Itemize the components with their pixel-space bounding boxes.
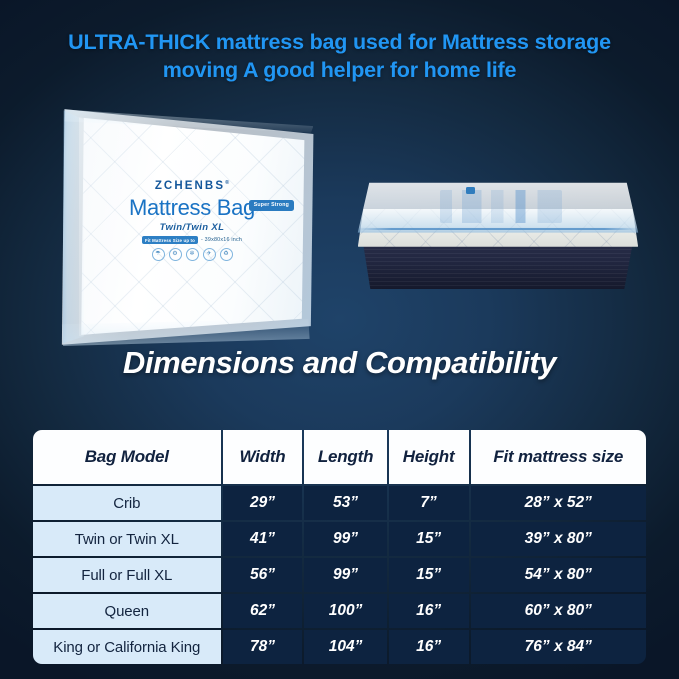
- cell-fit-size: 60” x 80”: [471, 594, 646, 628]
- table-header-row: Bag Model Width Length Height Fit mattre…: [33, 430, 646, 484]
- cell-width: 56”: [223, 558, 303, 592]
- package-label: ZCHENBS® Mattress Bag Twin/Twin XL Fit M…: [106, 176, 278, 261]
- table-row: Crib 29” 53” 7” 28” x 52”: [33, 486, 646, 520]
- cell-length: 104”: [304, 630, 386, 664]
- cell-bag-model: Full or Full XL: [33, 558, 221, 592]
- column-header-height: Height: [389, 430, 469, 484]
- cell-width: 29”: [223, 486, 303, 520]
- recyclable-icon: ♻: [220, 248, 233, 261]
- cell-fit-size: 28” x 52”: [471, 486, 646, 520]
- headline-line-2: moving A good helper for home life: [0, 56, 679, 84]
- table-row: Queen 62” 100” 16” 60” x 80”: [33, 594, 646, 628]
- cell-height: 15”: [389, 558, 469, 592]
- headline-line-1: ULTRA-THICK mattress bag used for Mattre…: [68, 30, 611, 54]
- bagged-mattress-angled-image: ZCHENBS® Mattress Bag Twin/Twin XL Fit M…: [58, 98, 316, 346]
- cell-length: 99”: [304, 522, 386, 556]
- brand-name: ZCHENBS®: [155, 180, 229, 192]
- cell-height: 15”: [389, 522, 469, 556]
- registered-mark-icon: ®: [225, 180, 229, 186]
- cell-bag-model: King or California King: [33, 630, 221, 664]
- cell-fit-size: 39” x 80”: [471, 522, 646, 556]
- cell-fit-size: 76” x 84”: [471, 630, 646, 664]
- cell-width: 41”: [223, 522, 303, 556]
- cell-width: 78”: [223, 630, 303, 664]
- product-variant: Twin/Twin XL: [106, 222, 278, 233]
- tear-resistant-icon: ⚙: [169, 248, 182, 261]
- feature-icon-row: ☂ ⚙ ✲ ✈ ♻: [106, 248, 278, 261]
- cell-length: 100”: [304, 594, 386, 628]
- cell-bag-model: Twin or Twin XL: [33, 522, 221, 556]
- column-header-width: Width: [223, 430, 303, 484]
- dimensions-table: Bag Model Width Length Height Fit mattre…: [31, 428, 648, 666]
- fit-size-line: Fit Mattress Size up to - 39x80x16 inch: [106, 236, 278, 244]
- dimensions-table-container: Bag Model Width Length Height Fit mattre…: [31, 428, 648, 666]
- table-body: Crib 29” 53” 7” 28” x 52” Twin or Twin X…: [33, 486, 646, 664]
- super-strong-badge: Super Strong: [249, 200, 294, 211]
- column-header-bag-model: Bag Model: [33, 430, 221, 484]
- bag-seal-line: [358, 228, 638, 230]
- table-row: King or California King 78” 104” 16” 76”…: [33, 630, 646, 664]
- dust-proof-icon: ✲: [186, 248, 199, 261]
- cell-bag-model: Queen: [33, 594, 221, 628]
- cell-bag-model: Crib: [33, 486, 221, 520]
- table-row: Twin or Twin XL 41” 99” 15” 39” x 80”: [33, 522, 646, 556]
- product-infographic: ULTRA-THICK mattress bag used for Mattre…: [0, 0, 679, 679]
- brand-text: ZCHENBS: [155, 180, 225, 192]
- waterproof-icon: ☂: [152, 248, 165, 261]
- cell-length: 99”: [304, 558, 386, 592]
- cell-width: 62”: [223, 594, 303, 628]
- bag-logo-badge-icon: [466, 187, 475, 194]
- cell-length: 53”: [304, 486, 386, 520]
- fit-size-pill: Fit Mattress Size up to: [142, 236, 198, 244]
- cell-height: 7”: [389, 486, 469, 520]
- table-row: Full or Full XL 56” 99” 15” 54” x 80”: [33, 558, 646, 592]
- column-header-fit-mattress-size: Fit mattress size: [471, 430, 646, 484]
- cell-height: 16”: [389, 594, 469, 628]
- section-heading: Dimensions and Compatibility: [0, 345, 679, 381]
- bag-printed-artwork: [440, 190, 563, 223]
- table-header: Bag Model Width Length Height Fit mattre…: [33, 430, 646, 484]
- cell-fit-size: 54” x 80”: [471, 558, 646, 592]
- headline: ULTRA-THICK mattress bag used for Mattre…: [0, 28, 679, 85]
- cell-height: 16”: [389, 630, 469, 664]
- bagged-mattress-flat-image: [352, 176, 644, 294]
- moving-icon: ✈: [203, 248, 216, 261]
- column-header-length: Length: [304, 430, 386, 484]
- fit-size-value: - 39x80x16 inch: [201, 237, 242, 243]
